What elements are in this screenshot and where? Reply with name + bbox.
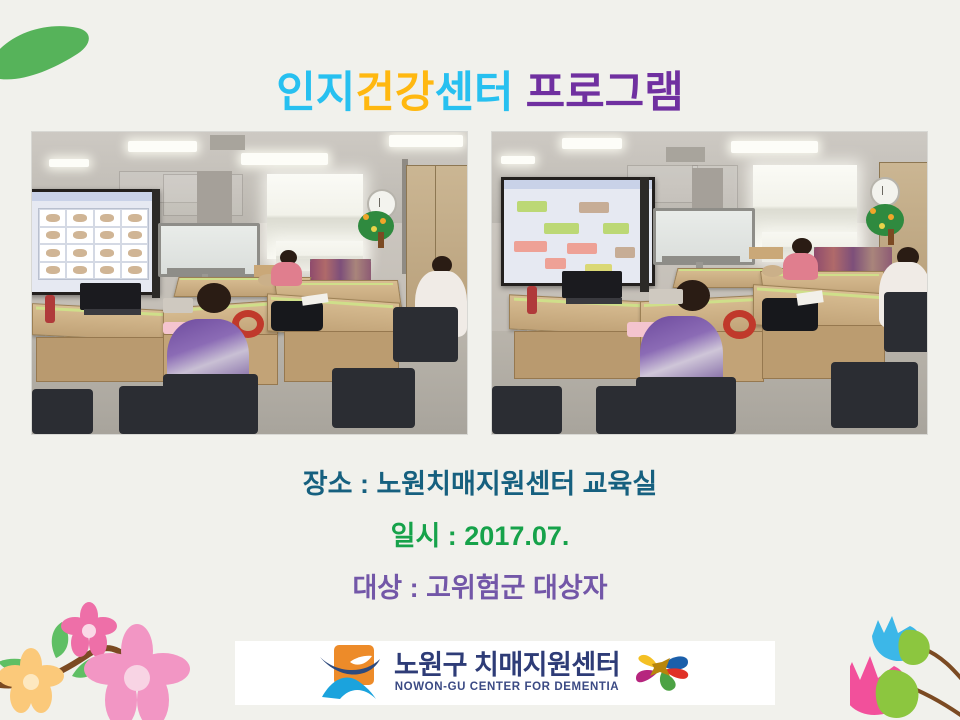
title-segment-2: 건강 [355,69,434,117]
logo-korean-name: 노원구 치매지원센터 [394,652,620,679]
title-segment-3: 센터 [434,69,513,117]
presentation-slide: 인지건강센터프로그램 [0,0,960,720]
classroom-photo-right [491,131,928,435]
info-date: 일시 : 2017.07. [0,510,960,562]
nowon-dementia-mark-icon [320,643,382,704]
photo-row [0,131,960,436]
tulip-decoration-icon [850,600,960,720]
logo-english-name: NOWON-GU CENTER FOR DEMENTIA [395,682,619,694]
organization-logo: 노원구 치매지원센터 NOWON-GU CENTER FOR DEMENTIA [235,641,775,705]
title-segment-4: 프로그램 [526,69,684,117]
nowon-gu-emblem-icon [632,648,690,699]
event-info-block: 장소 : 노원치매지원센터 교육실 일시 : 2017.07. 대상 : 고위험… [0,458,960,614]
classroom-photo-left [31,131,468,435]
info-place: 장소 : 노원치매지원센터 교육실 [0,458,960,510]
flower-branch-decoration-icon [0,596,224,720]
slide-title: 인지건강센터프로그램 [0,65,960,121]
title-segment-1: 인지 [276,69,355,117]
projector-word-cards [504,180,652,283]
info-target: 대상 : 고위험군 대상자 [0,562,960,614]
logo-text-block: 노원구 치매지원센터 NOWON-GU CENTER FOR DEMENTIA [394,652,620,694]
